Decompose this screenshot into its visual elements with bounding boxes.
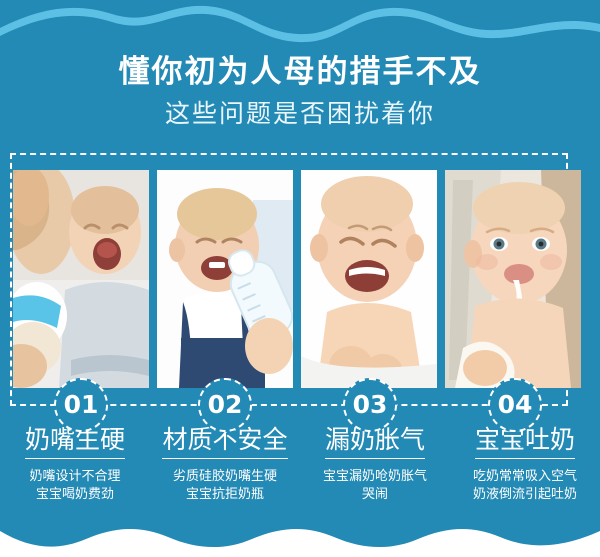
badge-number-01: 01 [54,378,108,432]
wave-top-decoration [0,0,600,56]
caption-row: 奶嘴生硬 奶嘴设计不合理 宝宝喝奶费劲 材质不安全 劣质硅胶奶嘴生硬 宝宝抗拒奶… [0,424,600,504]
caption-desc-02: 劣质硅胶奶嘴生硬 宝宝抗拒奶瓶 [150,468,300,504]
badge-number-04: 04 [488,378,542,432]
photo-row [13,170,587,388]
caption-item-03: 漏奶胀气 宝宝漏奶呛奶胀气 哭闹 [300,424,450,504]
badge-number-03: 03 [343,378,397,432]
badge-number-02: 02 [198,378,252,432]
caption-desc-04-line1: 吃奶常常吸入空气 [450,468,600,486]
caption-desc-01: 奶嘴设计不合理 宝宝喝奶费劲 [0,468,150,504]
caption-desc-04-line2: 奶液倒流引起吐奶 [450,486,600,504]
photo-item-02 [157,170,293,388]
caption-item-04: 宝宝吐奶 吃奶常常吸入空气 奶液倒流引起吐奶 [450,424,600,504]
photo-item-01 [13,170,149,388]
caption-desc-01-line1: 奶嘴设计不合理 [0,468,150,486]
photo-item-03 [301,170,437,388]
caption-desc-04: 吃奶常常吸入空气 奶液倒流引起吐奶 [450,468,600,504]
promo-banner: 懂你初为人母的措手不及 这些问题是否困扰着你 [0,0,600,557]
caption-desc-02-line2: 宝宝抗拒奶瓶 [150,486,300,504]
caption-desc-03: 宝宝漏奶呛奶胀气 哭闹 [300,468,450,504]
photo-item-04 [445,170,581,388]
caption-desc-01-line2: 宝宝喝奶费劲 [0,486,150,504]
caption-item-01: 奶嘴生硬 奶嘴设计不合理 宝宝喝奶费劲 [0,424,150,504]
wave-bottom-decoration [0,509,600,557]
caption-desc-02-line1: 劣质硅胶奶嘴生硬 [150,468,300,486]
caption-item-02: 材质不安全 劣质硅胶奶嘴生硬 宝宝抗拒奶瓶 [150,424,300,504]
caption-desc-03-line1: 宝宝漏奶呛奶胀气 [300,468,450,486]
page-subtitle: 这些问题是否困扰着你 [0,96,600,132]
caption-desc-03-line2: 哭闹 [300,486,450,504]
title-block: 懂你初为人母的措手不及 这些问题是否困扰着你 [0,52,600,132]
page-title: 懂你初为人母的措手不及 [0,52,600,92]
